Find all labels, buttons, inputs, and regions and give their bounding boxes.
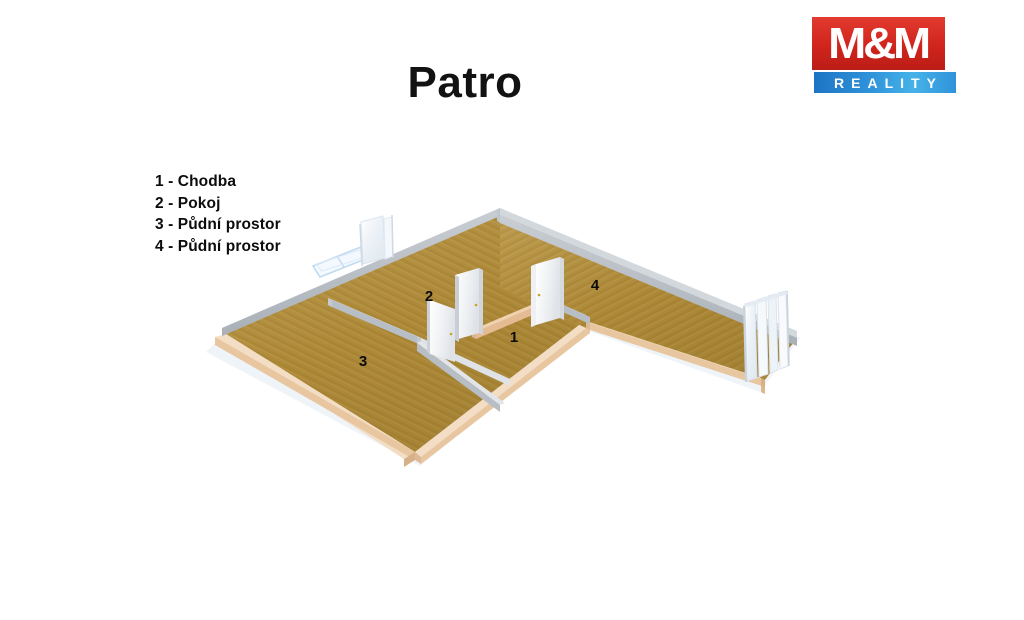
room-marker-1: 1 <box>510 329 518 346</box>
door-hallway-right <box>532 257 564 327</box>
door-frame-right <box>531 264 536 327</box>
logo-mark-text: M&M <box>829 22 929 66</box>
room-marker-3: 3 <box>359 353 367 370</box>
dormer-window-panel <box>360 215 393 266</box>
logo-bar: REALITY <box>814 72 956 93</box>
legend-item-2: 2 - Pokoj <box>155 193 281 215</box>
room-marker-2: 2 <box>425 288 433 305</box>
logo-mark: M&M <box>812 17 945 70</box>
logo-bar-text: REALITY <box>827 75 943 91</box>
door-leaf-open-left <box>427 298 455 362</box>
legend-item-3: 3 - Půdní prostor <box>155 214 281 236</box>
page-title: Patro <box>0 58 930 108</box>
brand-logo: M&M REALITY <box>812 17 958 94</box>
legend-item-4: 4 - Půdní prostor <box>155 236 281 258</box>
door-hallway-left <box>455 268 483 342</box>
window-wall-right <box>744 291 789 382</box>
legend-item-1: 1 - Chodba <box>155 171 281 193</box>
room-marker-4: 4 <box>591 277 600 294</box>
room-legend: 1 - Chodba 2 - Pokoj 3 - Půdní prostor 4… <box>155 171 281 257</box>
floorplan-page: 1 2 3 4 Patro 1 - Chodba 2 - Pokoj 3 - P… <box>0 0 1024 620</box>
